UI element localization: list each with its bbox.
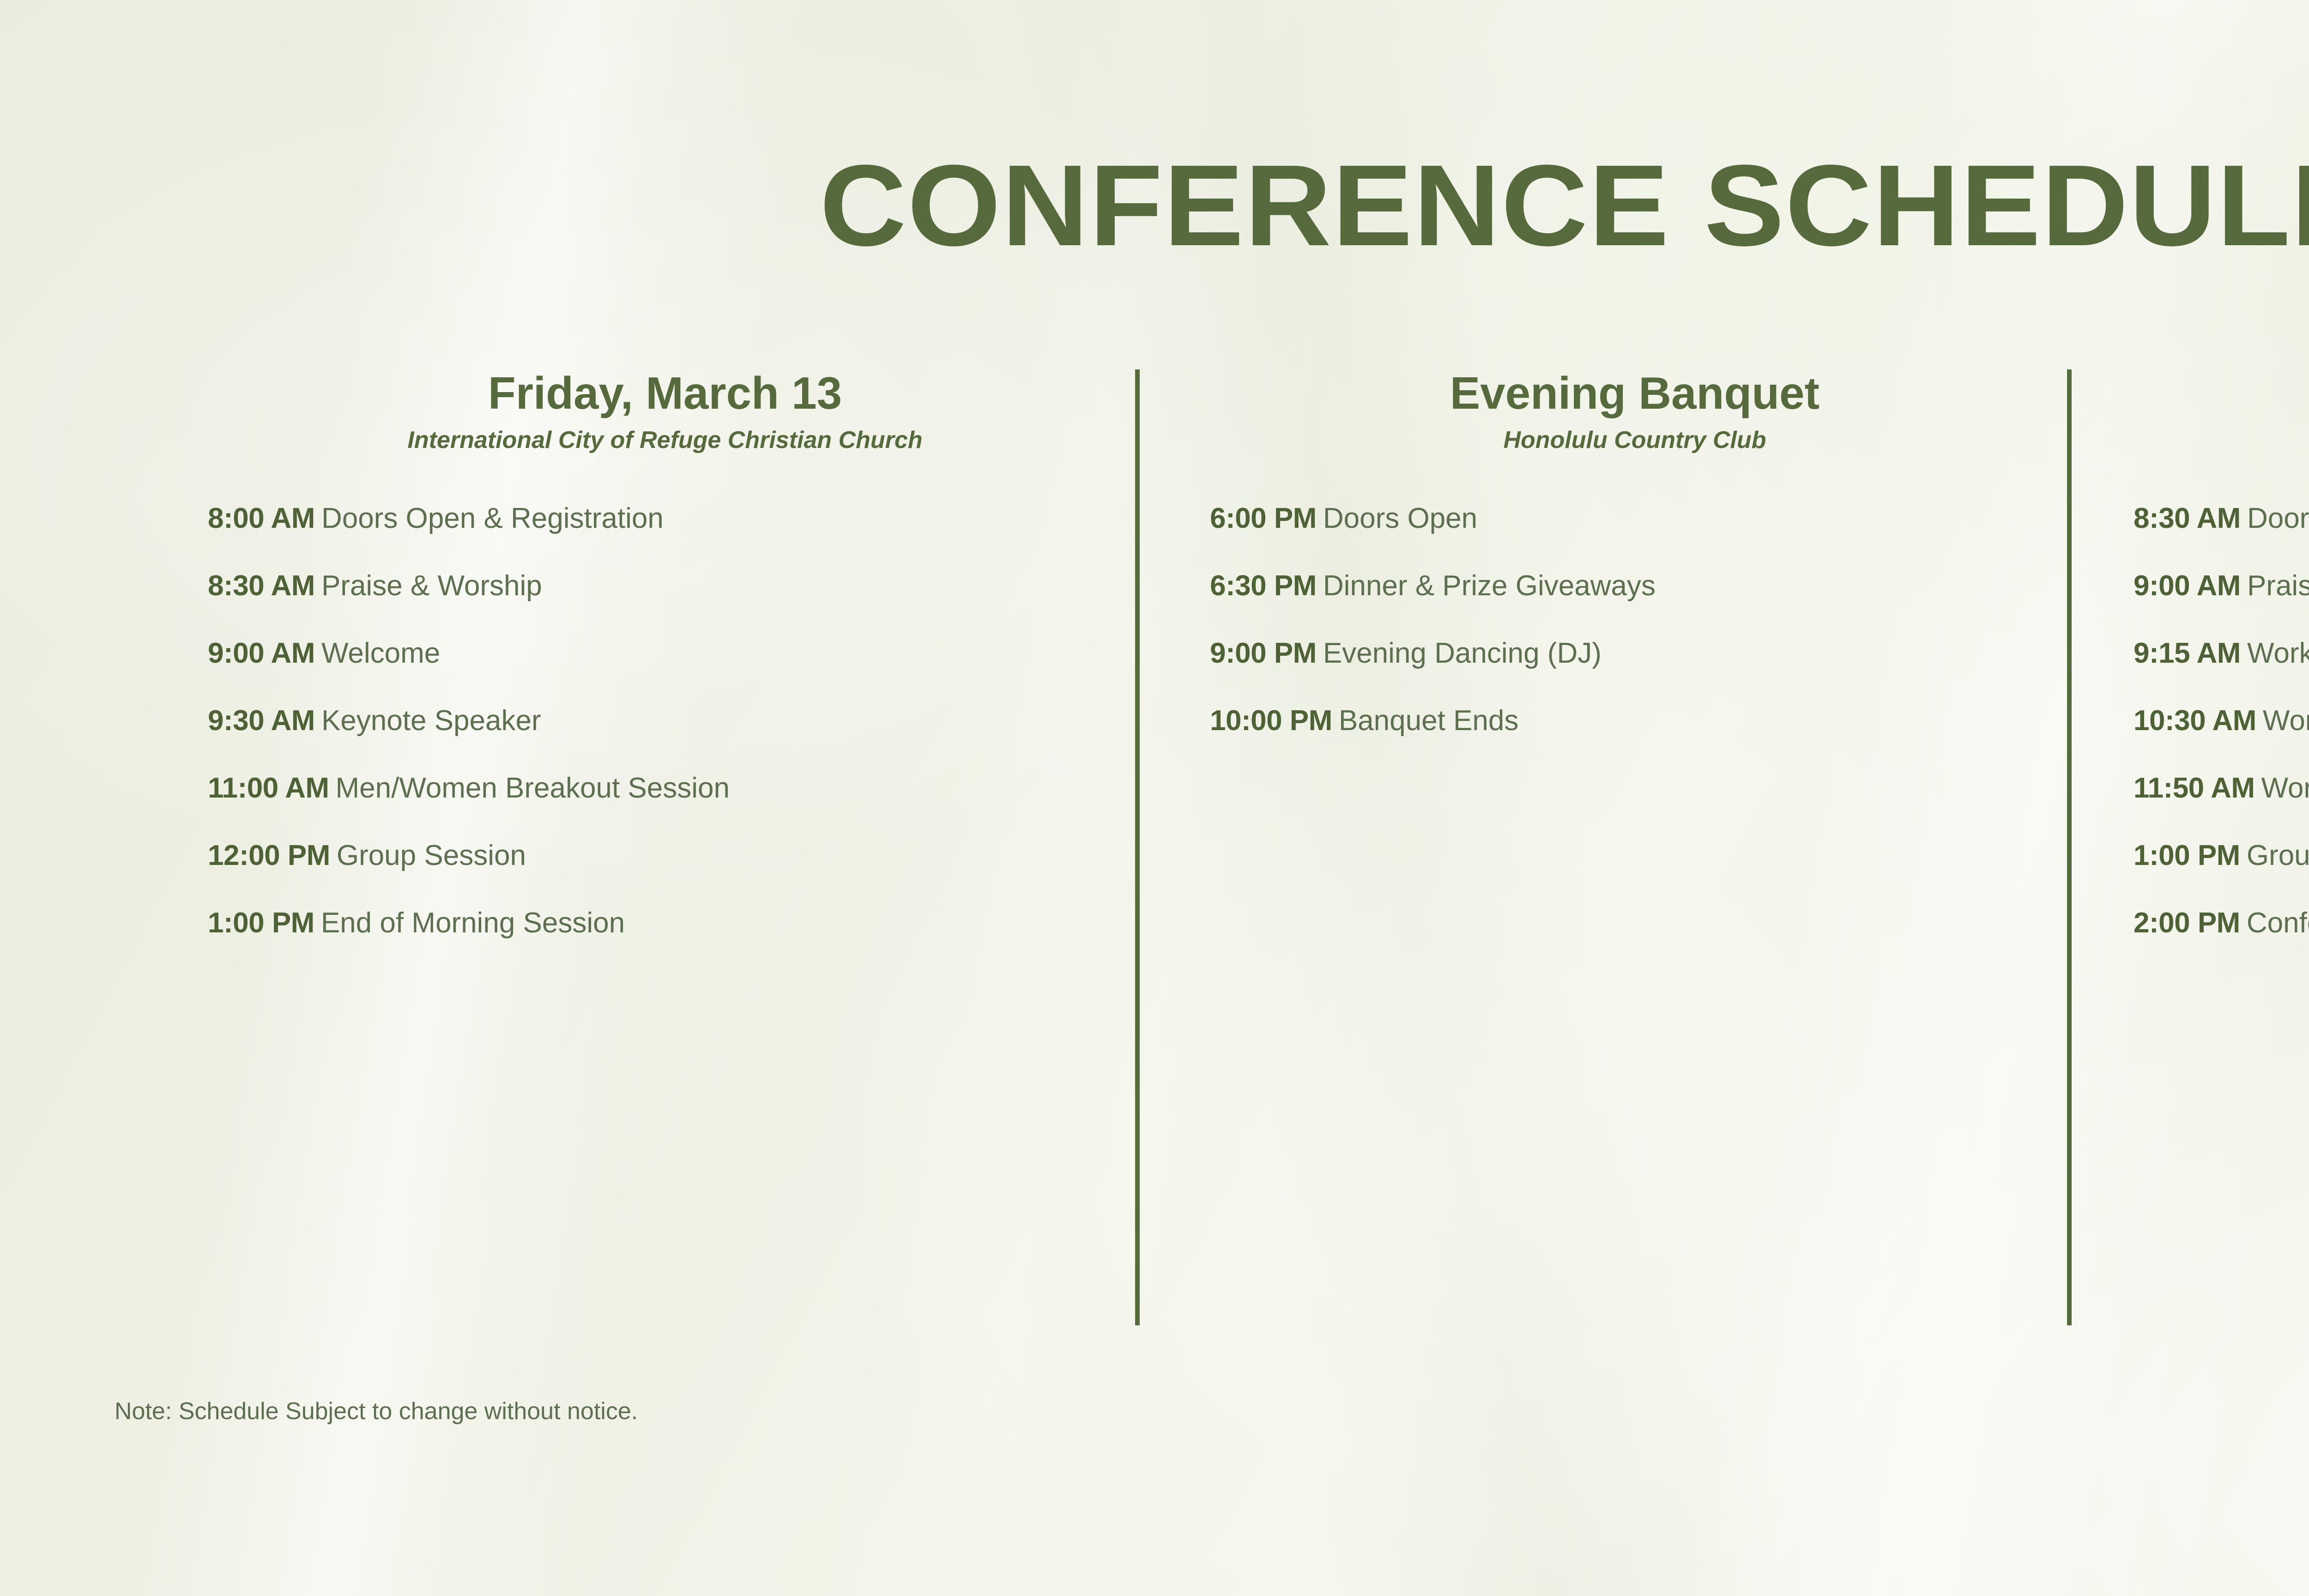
- schedule-item: 11:50 AMWorkshop 3: [2134, 774, 2309, 803]
- item-time: 11:00 AM: [208, 772, 329, 804]
- item-time: 9:00 PM: [1210, 637, 1317, 669]
- schedule-columns: Friday, March 13 International City of R…: [0, 369, 2309, 1339]
- item-description: Doors Open: [2247, 502, 2309, 534]
- item-description: Evening Dancing (DJ): [1323, 637, 1602, 669]
- schedule-item-list: 6:00 PMDoors Open 6:30 PMDinner & Prize …: [1210, 504, 2060, 735]
- item-description: Workshop 2: [2263, 705, 2309, 737]
- item-description: Praise & Worship: [321, 570, 542, 602]
- column-heading: Friday, March 13: [208, 369, 1122, 417]
- schedule-item: 1:00 PMEnd of Morning Session: [208, 909, 1122, 937]
- item-time: 1:00 PM: [2134, 840, 2240, 871]
- item-description: Men/Women Breakout Session: [336, 772, 730, 804]
- column-heading: Saturday, March 14: [2134, 369, 2309, 417]
- item-time: 9:30 AM: [208, 705, 315, 737]
- schedule-column-friday: Friday, March 13 International City of R…: [208, 369, 1122, 976]
- footnote: Note: Schedule Subject to change without…: [115, 1399, 638, 1423]
- item-time: 8:30 AM: [208, 570, 315, 602]
- item-description: Conference Ends: [2247, 907, 2309, 939]
- item-time: 10:00 PM: [1210, 705, 1332, 737]
- schedule-item: 10:30 AMWorkshop 2: [2134, 707, 2309, 735]
- item-time: 12:00 PM: [208, 840, 330, 871]
- schedule-item: 12:00 PMGroup Session: [208, 841, 1122, 870]
- item-description: Workshop 3: [2261, 772, 2309, 804]
- schedule-item: 11:00 AMMen/Women Breakout Session: [208, 774, 1122, 803]
- item-description: Dinner & Prize Giveaways: [1323, 570, 1656, 602]
- item-time: 6:00 PM: [1210, 502, 1317, 534]
- schedule-column-banquet: Evening Banquet Honolulu Country Club 6:…: [1210, 369, 2060, 774]
- schedule-item: 8:00 AMDoors Open & Registration: [208, 504, 1122, 533]
- column-subheading: International City of Refuge Christian C…: [208, 427, 1122, 453]
- page-title: CONFERENCE SCHEDULE: [0, 148, 2309, 263]
- item-description: Welcome: [321, 637, 440, 669]
- column-subheading: International City of Refuge Christian C…: [2134, 427, 2309, 453]
- schedule-item: 9:30 AMKeynote Speaker: [208, 707, 1122, 735]
- schedule-item: 9:00 PMEvening Dancing (DJ): [1210, 639, 2060, 668]
- schedule-item: 10:00 PMBanquet Ends: [1210, 707, 2060, 735]
- item-time: 8:00 AM: [208, 502, 315, 534]
- schedule-item: 2:00 PMConference Ends: [2134, 909, 2309, 937]
- item-time: 1:00 PM: [208, 907, 314, 939]
- item-description: Banquet Ends: [1339, 705, 1519, 737]
- item-time: 9:15 AM: [2134, 637, 2241, 669]
- schedule-item: 6:30 PMDinner & Prize Giveaways: [1210, 572, 2060, 600]
- column-subheading: Honolulu Country Club: [1210, 427, 2060, 453]
- item-description: Keynote Speaker: [321, 705, 541, 737]
- schedule-poster: CONFERENCE SCHEDULE Friday, March 13 Int…: [0, 0, 2309, 1596]
- schedule-item: 9:00 AMPraise & Worship: [2134, 572, 2309, 600]
- schedule-item-list: 8:00 AMDoors Open & Registration 8:30 AM…: [208, 504, 1122, 937]
- item-time: 11:50 AM: [2134, 772, 2255, 804]
- schedule-item: 9:00 AMWelcome: [208, 639, 1122, 668]
- item-description: Doors Open & Registration: [321, 502, 664, 534]
- item-time: 9:00 AM: [208, 637, 315, 669]
- item-time: 6:30 PM: [1210, 570, 1317, 602]
- schedule-item: 1:00 PMGroup Session & Closing Remarks: [2134, 841, 2309, 870]
- schedule-item: 8:30 AMPraise & Worship: [208, 572, 1122, 600]
- item-description: End of Morning Session: [321, 907, 625, 939]
- schedule-column-saturday: Saturday, March 14 International City of…: [2134, 369, 2309, 976]
- item-description: Doors Open: [1323, 502, 1477, 534]
- schedule-item: 6:00 PMDoors Open: [1210, 504, 2060, 533]
- item-time: 8:30 AM: [2134, 502, 2241, 534]
- schedule-item: 9:15 AMWorkshop 1: [2134, 639, 2309, 668]
- item-description: Workshop 1: [2247, 637, 2309, 669]
- item-time: 10:30 AM: [2134, 705, 2256, 737]
- item-description: Group Session: [337, 840, 526, 871]
- schedule-item: 8:30 AMDoors Open: [2134, 504, 2309, 533]
- column-heading: Evening Banquet: [1210, 369, 2060, 417]
- schedule-item-list: 8:30 AMDoors Open 9:00 AMPraise & Worshi…: [2134, 504, 2309, 937]
- item-description: Praise & Worship: [2247, 570, 2309, 602]
- item-description: Group Session & Closing Remarks: [2247, 840, 2309, 871]
- item-time: 9:00 AM: [2134, 570, 2241, 602]
- item-time: 2:00 PM: [2134, 907, 2240, 939]
